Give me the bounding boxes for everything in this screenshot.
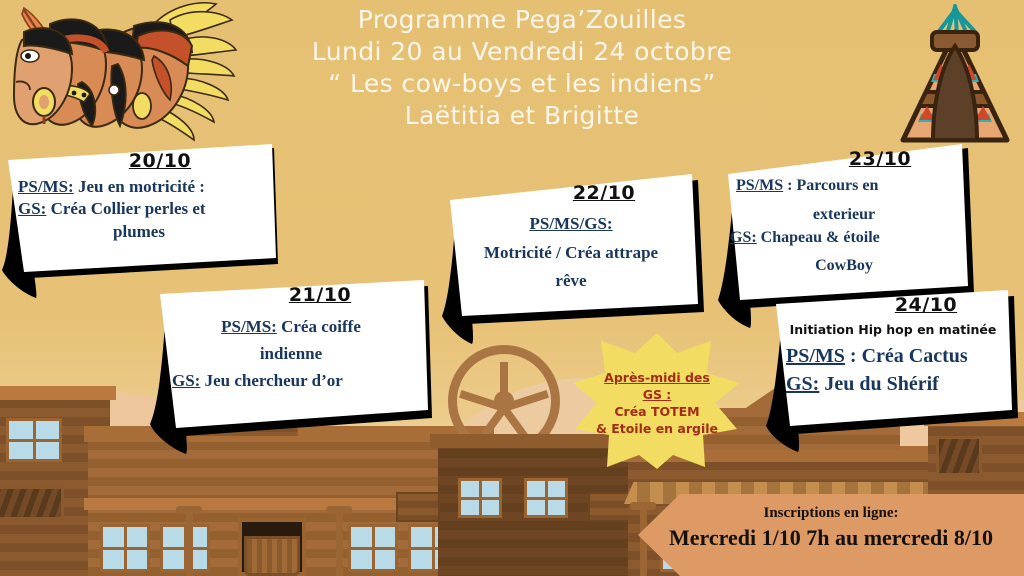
activity-text: : Parcours en (783, 177, 878, 194)
native-american-heads-icon (2, 0, 238, 148)
building-window (6, 418, 62, 462)
activity-text: : Créa Cactus (845, 345, 968, 367)
porch-post-cap (176, 506, 202, 514)
bubble-body: PS/MS: Créa coiffe indienne GS: Jeu cher… (160, 314, 422, 395)
activity-text: exterieur (813, 206, 875, 223)
star-line-1: Après-midi des (573, 369, 741, 386)
activity-text: Chapeau & étoile (757, 229, 880, 246)
bubble-20-10[interactable]: 20/10 PS/MS: Jeu en motricité : GS: Créa… (0, 142, 282, 280)
activity-text: indienne (260, 344, 322, 363)
bubble-21-10-content: 21/10 PS/MS: Créa coiffe indienne GS: Je… (150, 278, 440, 438)
porch-post (336, 508, 343, 576)
bubble-body: PS/MS: Jeu en motricité : GS: Créa Colli… (8, 176, 270, 243)
bubble-line: GS: Chapeau & étoile (726, 226, 962, 249)
bubble-line: PS/MS : Créa Cactus (778, 342, 1010, 370)
bubble-22-10-content: 22/10 PS/MS/GS: Motricité / Créa attrape… (442, 172, 710, 324)
activity-text: Jeu chercheur d’or (200, 371, 342, 390)
banner-line-2: Mercredi 1/10 7h au mercredi 8/10 (638, 525, 1024, 551)
activity-text: Créa Collier perles et (46, 199, 205, 218)
activity-text: plumes (113, 222, 165, 241)
bubble-22-10[interactable]: 22/10 PS/MS/GS: Motricité / Créa attrape… (442, 172, 710, 324)
title-line-3: “ Les cow-boys et les indiens” (262, 68, 782, 100)
star-line-2: GS : (573, 386, 741, 403)
bubble-body: PS/MS/GS: Motricité / Créa attrape rêve (446, 210, 696, 296)
banner-line-1: Inscriptions en ligne: (638, 505, 1024, 522)
building-shutter (0, 486, 64, 520)
bubble-21-10[interactable]: 21/10 PS/MS: Créa coiffe indienne GS: Je… (150, 278, 440, 438)
bubble-line: PS/MS : Parcours en (726, 174, 962, 197)
bubble-date: 24/10 (846, 294, 1006, 316)
building-window (160, 524, 210, 572)
title-line-1: Programme Pega’Zouilles (262, 4, 782, 36)
bubble-line: PS/MS: Créa coiffe (160, 314, 422, 341)
porch-post-cap (326, 506, 352, 514)
bubble-line: GS: Jeu du Shérif (778, 370, 1010, 398)
bubble-date: 20/10 (60, 150, 260, 172)
saloon-swing-door (244, 536, 300, 576)
bubble-line: GS: Jeu chercheur d’or (160, 368, 422, 395)
star-line-3: Créa TOTEM (573, 403, 741, 420)
activity-text: Jeu en motricité : (74, 177, 205, 196)
building-window (348, 524, 398, 572)
building-window (458, 478, 502, 518)
bubble-20-10-content: 20/10 PS/MS: Jeu en motricité : GS: Créa… (0, 142, 282, 280)
group-label: PS/MS: (18, 177, 74, 196)
porch-post (186, 508, 193, 576)
activity-text: Motricité / Créa attrape (484, 243, 658, 262)
bubble-24-10-content: 24/10 Initiation Hip hop en matinée PS/M… (766, 288, 1018, 438)
group-label: PS/MS/GS: (529, 214, 612, 233)
bubble-line: plumes (8, 221, 270, 243)
bubble-date: 23/10 (800, 148, 960, 170)
group-label: PS/MS (786, 345, 845, 367)
activity-text: Jeu du Shérif (819, 373, 938, 395)
bubble-date: 21/10 (220, 284, 420, 306)
building-cornice (0, 386, 116, 400)
bubble-24-10[interactable]: 24/10 Initiation Hip hop en matinée PS/M… (766, 288, 1018, 438)
bubble-line: exterieur (726, 197, 962, 226)
activity-text: rêve (555, 271, 586, 290)
star-badge-text: Après-midi des GS : Créa TOTEM & Etoile … (573, 369, 741, 437)
bubble-line: indienne (160, 341, 422, 368)
registration-banner[interactable]: Inscriptions en ligne: Mercredi 1/10 7h … (638, 494, 1024, 576)
group-label: PS/MS: (221, 317, 277, 336)
wooden-crate (396, 492, 440, 522)
star-badge[interactable]: Après-midi des GS : Créa TOTEM & Etoile … (573, 333, 741, 469)
title-line-2: Lundi 20 au Vendredi 24 octobre (262, 36, 782, 68)
bubble-date: 22/10 (516, 182, 692, 204)
group-label: PS/MS (736, 177, 783, 194)
group-label: GS: (786, 373, 819, 395)
title-line-4: Laëtitia et Brigitte (262, 100, 782, 132)
bubble-note: Initiation Hip hop en matinée (776, 322, 1010, 337)
poster-canvas: Programme Pega’Zouilles Lundi 20 au Vend… (0, 0, 1024, 576)
group-label: GS: (172, 371, 200, 390)
building-window (524, 478, 568, 518)
bubble-line: CowBoy (726, 250, 962, 277)
group-label: GS: (18, 199, 46, 218)
page-title: Programme Pega’Zouilles Lundi 20 au Vend… (262, 4, 782, 132)
bubble-body: PS/MS : Parcours en exterieur GS: Chapea… (726, 174, 962, 277)
building-window (100, 524, 150, 572)
bubble-line: PS/MS/GS: (446, 210, 696, 239)
activity-text: Créa coiffe (277, 317, 361, 336)
wheel-spoke (500, 362, 508, 408)
teepee-icon (893, 2, 1017, 152)
group-label: GS: (730, 229, 757, 246)
activity-text: CowBoy (815, 257, 873, 274)
bubble-body: PS/MS : Créa Cactus GS: Jeu du Shérif (778, 342, 1010, 399)
bubble-line: rêve (446, 267, 696, 296)
bubble-line: Motricité / Créa attrape (446, 239, 696, 268)
bubble-line: PS/MS: Jeu en motricité : (8, 176, 270, 198)
star-line-4: & Etoile en argile (573, 420, 741, 437)
bubble-line: GS: Créa Collier perles et (8, 198, 270, 220)
